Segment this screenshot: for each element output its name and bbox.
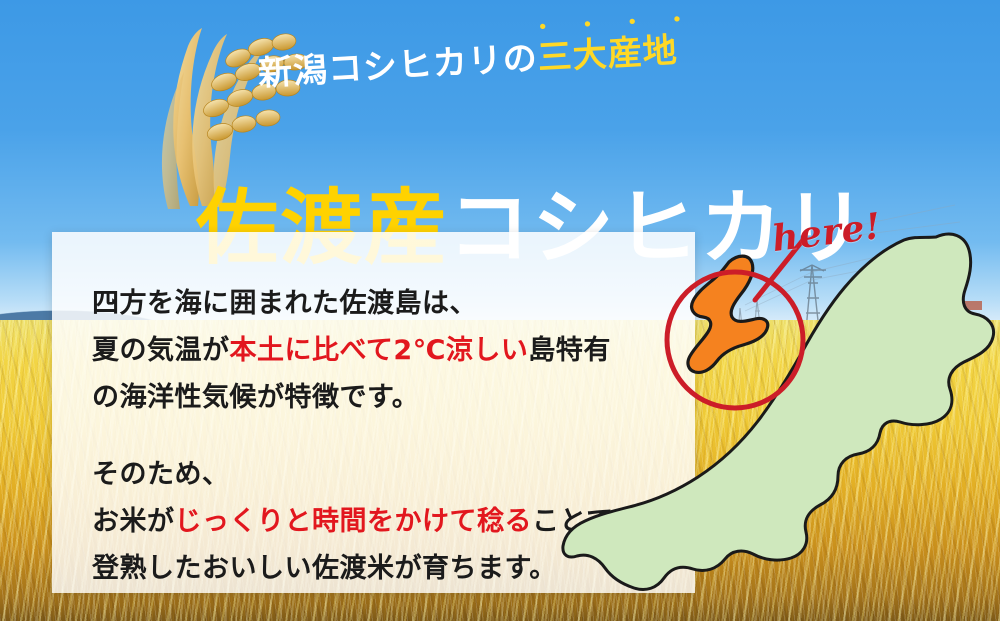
body-text: の海洋性気候が特徴です。 [92,382,419,413]
poster-canvas: 新潟コシヒカリの三大産地 佐渡産コシヒカリ 四方を海に囲まれた佐渡島は、 夏の気… [0,0,1000,621]
emphasis-text: じっくりと時間をかけて稔る [175,506,533,537]
emphasis-text: 本土に比べて2℃涼しい [230,335,529,366]
body-text: 登熟したおいしい佐渡米が育ちます。 [92,553,557,584]
body-text: 夏の気温が [92,335,230,366]
body-text: そのため、 [92,459,230,490]
subtitle-highlight: 三大産地 [537,31,679,79]
body-text: お米が [92,506,175,537]
body-text: 四方を海に囲まれた佐渡島は、 [92,288,477,319]
